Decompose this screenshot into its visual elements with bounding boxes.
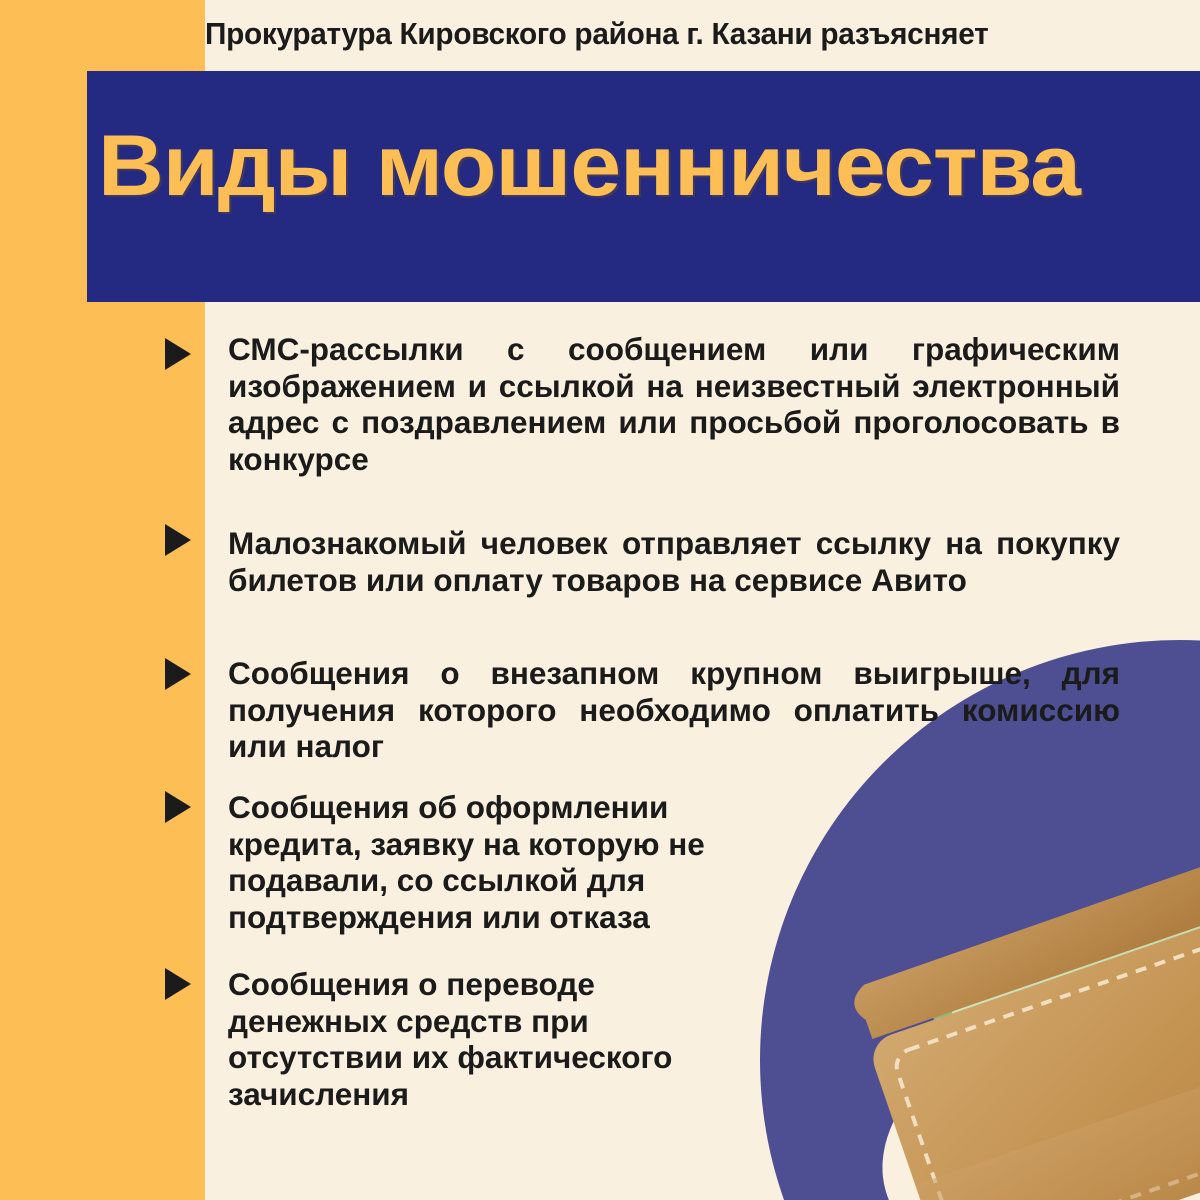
triangle-right-icon <box>165 791 191 823</box>
triangle-right-icon <box>165 658 191 690</box>
list-item-text: Малознакомый человек отправляет ссылку н… <box>228 525 1120 598</box>
list-item-text: Сообщения о внезапном крупном выигрыше, … <box>228 655 1120 765</box>
poster-canvas: Прокуратура Кировского района г. Казани … <box>0 0 1200 1200</box>
list-item-text: Сообщения об оформлении кредита, заявку … <box>228 789 788 936</box>
triangle-right-icon <box>165 524 191 556</box>
triangle-right-icon <box>165 968 191 1000</box>
list-item-text: СМС-рассылки с сообщением или графически… <box>228 331 1120 478</box>
triangle-right-icon <box>165 338 191 370</box>
fraud-types-list: СМС-рассылки с сообщением или графически… <box>0 0 1200 1200</box>
list-item-text: Сообщения о переводе денежных средств пр… <box>228 966 678 1113</box>
